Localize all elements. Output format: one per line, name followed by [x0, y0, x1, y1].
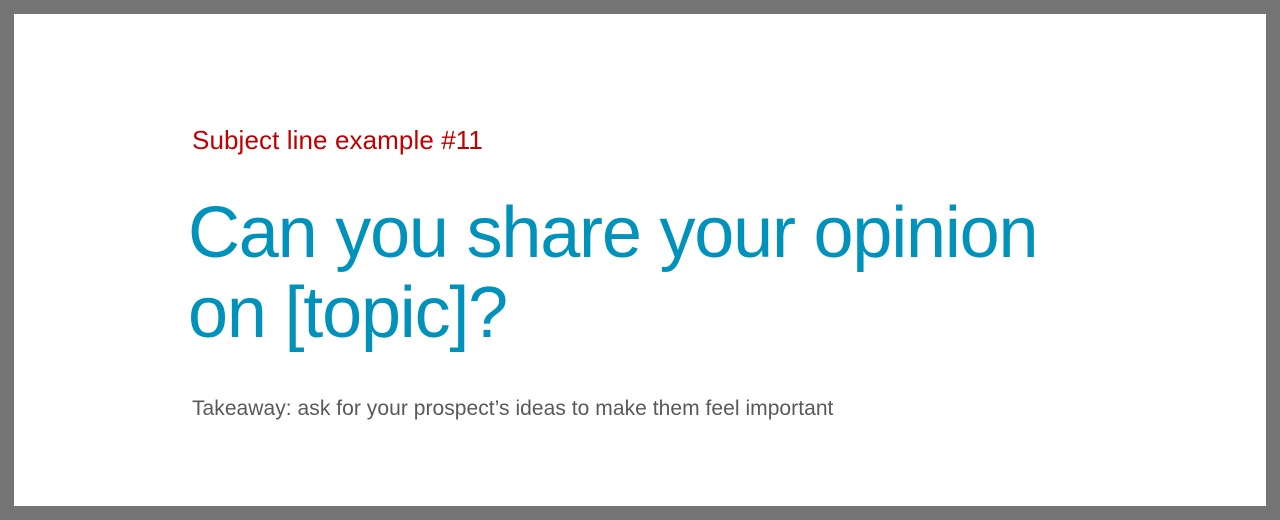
- slide-takeaway-text: Takeaway: ask for your prospect’s ideas …: [192, 395, 833, 423]
- slide-eyebrow-label: Subject line example #11: [192, 124, 483, 156]
- slide-content: Subject line example #11 Can you share y…: [192, 14, 1232, 506]
- slide-frame: Subject line example #11 Can you share y…: [14, 14, 1266, 506]
- slide-headline: Can you share your opinion on [topic]?: [188, 193, 1118, 353]
